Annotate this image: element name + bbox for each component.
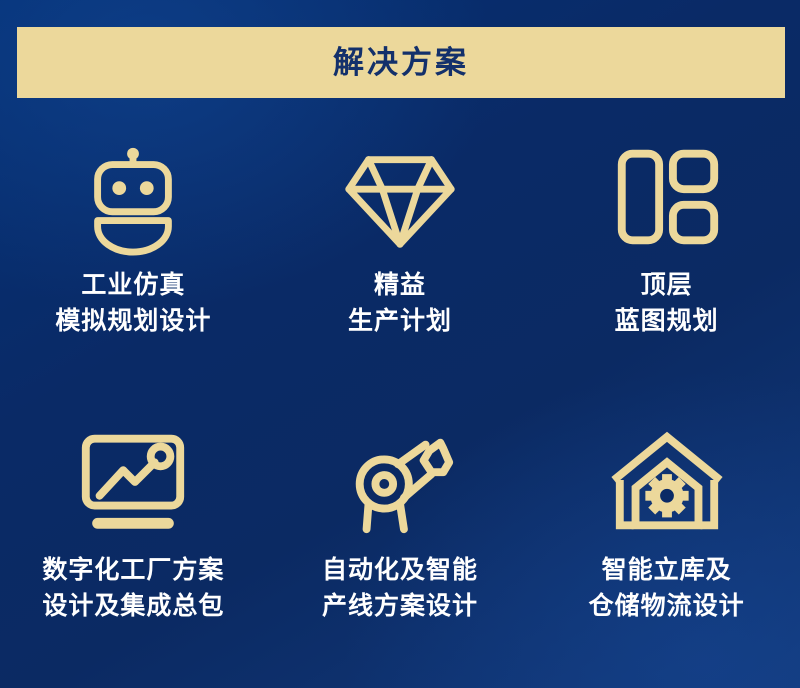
solution-card-lean-production[interactable]: 精益 生产计划 [267, 118, 534, 403]
solution-card-industrial-simulation[interactable]: 工业仿真 模拟规划设计 [0, 118, 267, 403]
solution-card-labels: 工业仿真 模拟规划设计 [55, 268, 211, 339]
solution-card-labels: 顶层 蓝图规划 [615, 268, 719, 339]
solution-label-line1: 智能立库及 [602, 556, 732, 584]
section-banner: 解决方案 [17, 27, 785, 98]
solution-label-line1: 顶层 [641, 271, 693, 299]
solution-card-labels: 智能立库及 仓储物流设计 [589, 553, 745, 624]
solution-card-automation-production-line[interactable]: 自动化及智能 产线方案设计 [267, 403, 534, 688]
solution-label-line2: 产线方案设计 [322, 589, 478, 625]
warehouse-gear-icon [608, 423, 726, 541]
solution-label-line1: 数字化工厂方案 [42, 556, 224, 584]
solution-label-line1: 工业仿真 [81, 271, 185, 299]
page-title: 解决方案 [333, 47, 469, 78]
layout-blueprint-icon [608, 138, 726, 256]
solution-card-smart-warehouse[interactable]: 智能立库及 仓储物流设计 [533, 403, 800, 688]
solution-label-line2: 生产计划 [348, 304, 452, 340]
diamond-icon [341, 138, 459, 256]
solution-card-labels: 数字化工厂方案 设计及集成总包 [42, 553, 224, 624]
solution-label-line1: 自动化及智能 [322, 556, 478, 584]
solution-card-digital-factory[interactable]: 数字化工厂方案 设计及集成总包 [0, 403, 267, 688]
solution-label-line1: 精益 [374, 271, 426, 299]
solution-label-line2: 蓝图规划 [615, 304, 719, 340]
solutions-grid: 工业仿真 模拟规划设计 精益 生产计划 [0, 118, 800, 688]
robot-icon [74, 138, 192, 256]
solution-card-top-level-blueprint[interactable]: 顶层 蓝图规划 [533, 118, 800, 403]
solutions-page: 解决方案 工业仿真 模拟规划设计 [0, 0, 800, 688]
solution-card-labels: 自动化及智能 产线方案设计 [322, 553, 478, 624]
solution-label-line2: 模拟规划设计 [55, 304, 211, 340]
monitor-chart-icon [74, 423, 192, 541]
solution-label-line2: 仓储物流设计 [589, 589, 745, 625]
solution-label-line2: 设计及集成总包 [42, 589, 224, 625]
robotic-arm-wrench-icon [341, 423, 459, 541]
solution-card-labels: 精益 生产计划 [348, 268, 452, 339]
